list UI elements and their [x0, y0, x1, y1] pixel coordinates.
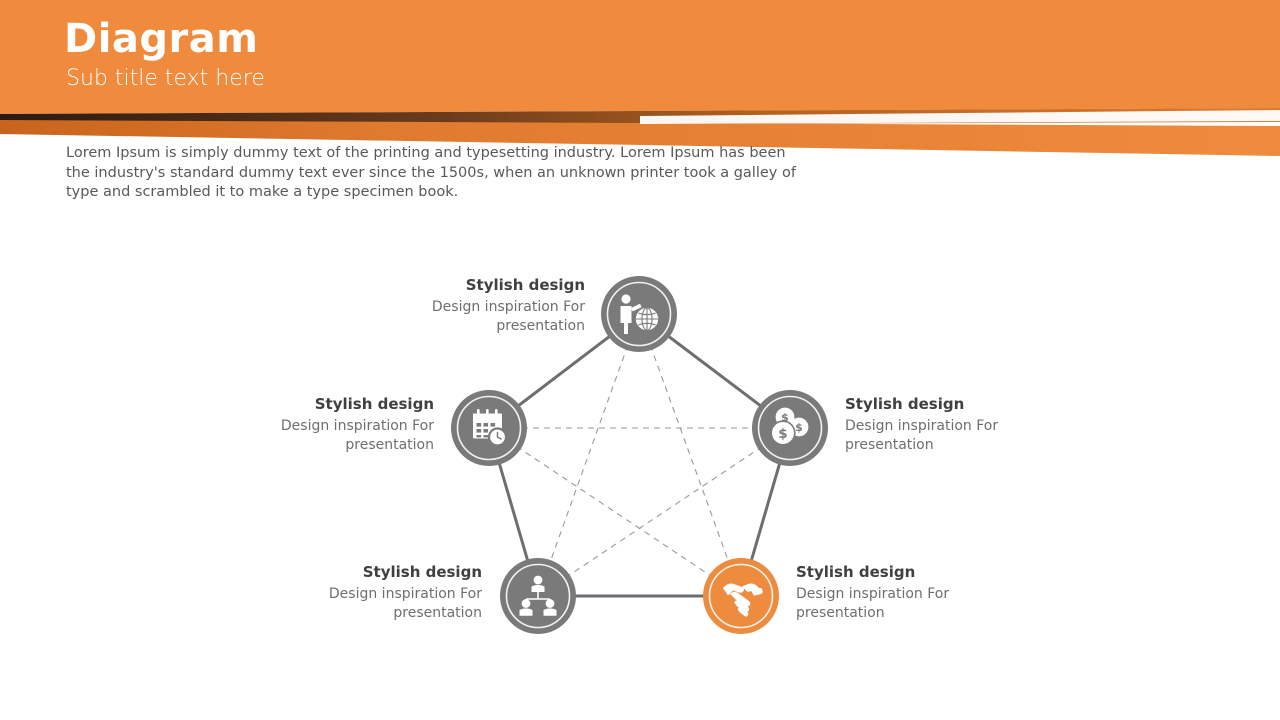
- node-top[interactable]: [601, 276, 677, 352]
- node-top-title: Stylish design: [347, 275, 585, 295]
- svg-text:$: $: [778, 426, 787, 442]
- node-bottom-right-desc: Design inspiration For presentation: [796, 585, 976, 622]
- node-bottom-left-title: Stylish design: [262, 562, 482, 582]
- svg-text:$: $: [795, 421, 803, 434]
- node-right-title: Stylish design: [845, 394, 1025, 414]
- node-right[interactable]: $ $ $: [752, 390, 828, 466]
- node-right-label: Stylish design Design inspiration For pr…: [845, 394, 1025, 454]
- node-right-desc: Design inspiration For presentation: [845, 417, 1025, 454]
- node-bottom-left-desc: Design inspiration For presentation: [262, 585, 482, 622]
- dashed-link-top-bottomright: [639, 314, 741, 596]
- node-bottom-right-label: Stylish design Design inspiration For pr…: [796, 562, 976, 622]
- node-left-desc: Design inspiration For presentation: [214, 417, 434, 454]
- pentagon-diagram: $ $ $: [0, 230, 1280, 680]
- node-top-label: Stylish design Design inspiration For pr…: [347, 275, 585, 335]
- node-left-title: Stylish design: [214, 394, 434, 414]
- node-left[interactable]: [451, 390, 527, 466]
- node-top-desc: Design inspiration For presentation: [347, 298, 585, 335]
- node-bottom-left[interactable]: [500, 558, 576, 634]
- diagram-solid-links: [489, 314, 790, 596]
- node-bottom-left-label: Stylish design Design inspiration For pr…: [262, 562, 482, 622]
- page-title: Diagram: [64, 16, 265, 62]
- node-bottom-right[interactable]: [703, 558, 779, 634]
- pentagon-diagram-svg: $ $ $: [0, 230, 1280, 680]
- header-text-group: Diagram Sub title text here: [64, 16, 265, 94]
- diagram-dashed-links: [489, 314, 790, 596]
- node-bottom-right-title: Stylish design: [796, 562, 976, 582]
- intro-paragraph: Lorem Ipsum is simply dummy text of the …: [66, 144, 796, 203]
- dashed-link-top-bottomleft: [538, 314, 639, 596]
- page-subtitle: Sub title text here: [66, 64, 265, 94]
- node-left-label: Stylish design Design inspiration For pr…: [214, 394, 434, 454]
